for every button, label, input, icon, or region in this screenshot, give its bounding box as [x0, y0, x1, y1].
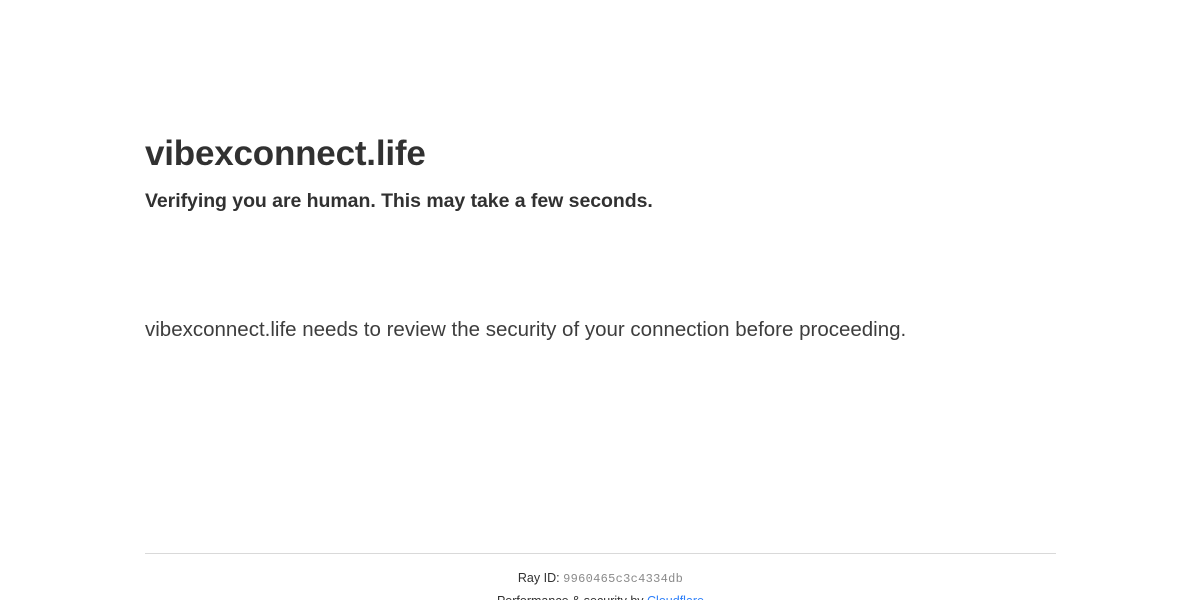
ray-id-row: Ray ID: 9960465c3c4334db — [145, 554, 1056, 587]
verification-status-heading: Verifying you are human. This may take a… — [145, 174, 1056, 214]
page-title: vibexconnect.life — [145, 0, 1056, 174]
footer: Ray ID: 9960465c3c4334db Performance & s… — [145, 554, 1056, 600]
cloudflare-link[interactable]: Cloudflare — [647, 594, 704, 600]
challenge-page: vibexconnect.life Verifying you are huma… — [0, 0, 1200, 600]
ray-id-value: 9960465c3c4334db — [563, 572, 683, 586]
attribution-prefix: Performance & security by — [497, 594, 647, 600]
attribution-row: Performance & security by Cloudflare — [145, 587, 1056, 600]
turnstile-challenge-widget[interactable] — [145, 215, 445, 312]
ray-id-label: Ray ID: — [518, 571, 560, 585]
challenge-content: vibexconnect.life Verifying you are huma… — [145, 0, 1056, 348]
security-review-explanation: vibexconnect.life needs to review the se… — [145, 312, 945, 348]
